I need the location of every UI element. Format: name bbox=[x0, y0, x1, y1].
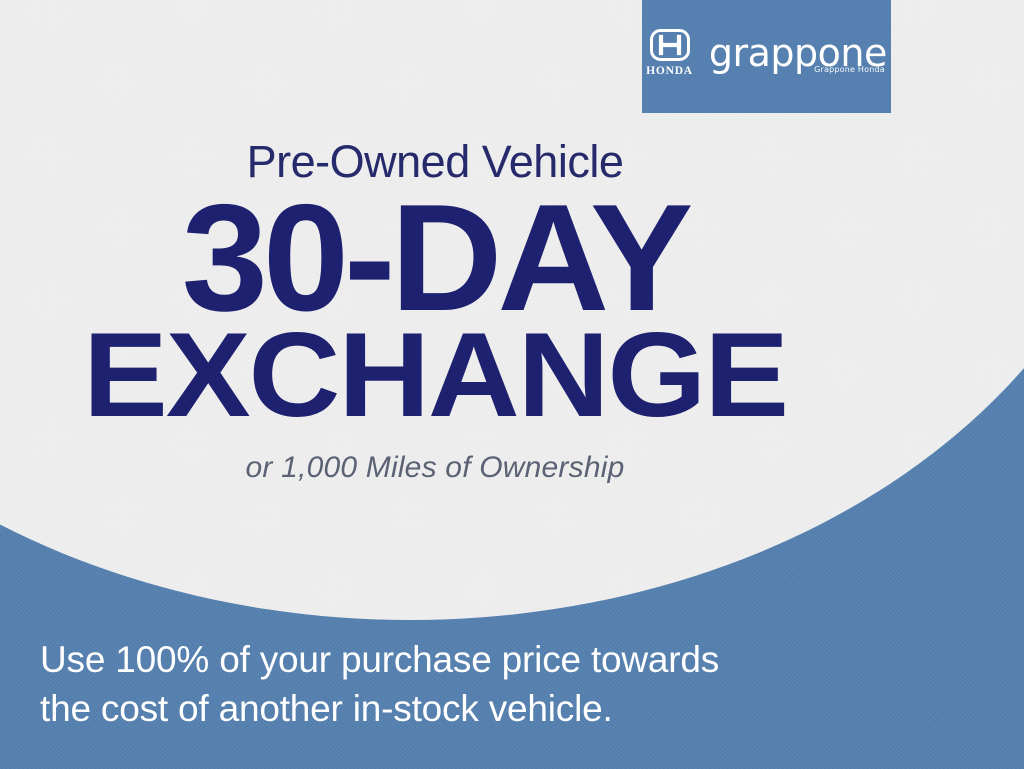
honda-h-emblem-icon bbox=[650, 29, 690, 61]
promotional-banner: HONDA grappone Grappone Honda Pre-Owned … bbox=[0, 0, 1024, 769]
bottom-copy: Use 100% of your purchase price towards … bbox=[40, 636, 940, 734]
headline-group: Pre-Owned Vehicle 30-DAY EXCHANGE or 1,0… bbox=[0, 138, 870, 485]
honda-logo: HONDA bbox=[646, 29, 693, 78]
bottom-copy-line-2: the cost of another in-stock vehicle. bbox=[40, 685, 940, 734]
dealer-logo-block: HONDA grappone Grappone Honda bbox=[642, 0, 891, 113]
bottom-copy-line-1: Use 100% of your purchase price towards bbox=[40, 636, 940, 685]
honda-wordmark: HONDA bbox=[646, 66, 693, 78]
headline-subtext: or 1,000 Miles of Ownership bbox=[0, 451, 870, 485]
headline-secondary: EXCHANGE bbox=[0, 321, 896, 429]
grappone-sub-wordmark: Grappone Honda bbox=[814, 65, 885, 74]
grappone-logo: grappone Grappone Honda bbox=[709, 33, 887, 74]
